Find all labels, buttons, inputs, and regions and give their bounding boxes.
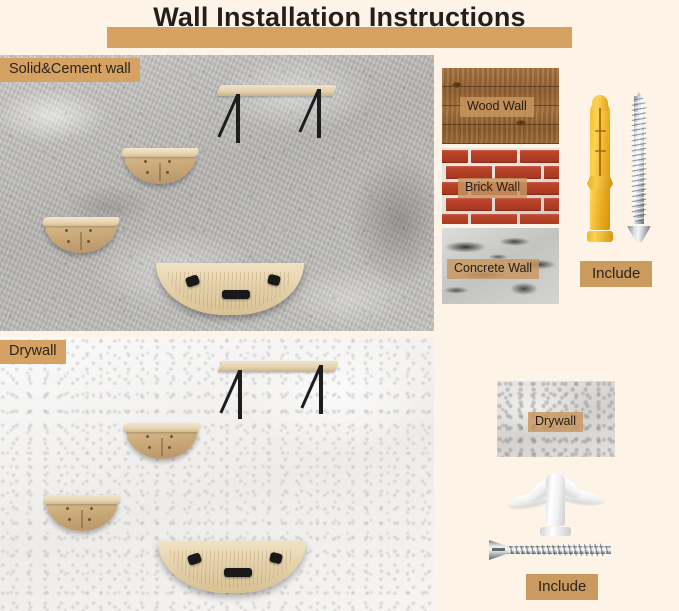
step-screw-hole [146,171,149,174]
brick-unit [544,198,559,211]
swatch-label-wood: Wood Wall [460,97,534,117]
screw-head-slot [492,548,505,551]
white-toggle-anchor-icon [508,466,604,538]
step-screw-hole [166,171,169,174]
toggle-body [546,474,565,526]
wall-shelf-large [220,361,337,419]
swatch-concrete-wall: Concrete Wall [442,228,559,304]
shelf-bracket-right-vertical [319,365,323,414]
toggle-base-flange [540,527,571,536]
instruction-poster: Wall Installation Instructions [0,0,679,611]
screw-thread [629,98,649,222]
half-round-step-upper [126,423,198,453]
swatch-label-drywall: Drywall [528,412,583,432]
step-screw-hole [65,229,68,232]
swatch-brick-wall: Brick Wall [442,148,559,224]
silver-screw-horizontal-icon [489,539,620,561]
photo-drywall [0,337,434,611]
step-screw-hole [68,518,71,521]
step-seam [159,163,161,181]
brick-unit [471,150,517,163]
photo-solid-cement-wall [0,55,434,331]
step-screw-hole [168,160,171,163]
brick-unit [520,150,559,163]
wall-shelf-large [218,85,335,143]
curved-cat-bridge [156,263,304,315]
brick-unit [446,198,492,211]
swatch-label-brick: Brick Wall [458,178,527,198]
step-screw-hole [170,435,173,438]
shelf-bracket-left-vertical [236,94,240,143]
half-round-step-lower [46,495,118,525]
anchor-flange [587,231,613,242]
half-round-step-lower [45,217,117,247]
step-seam [81,510,83,528]
half-round-step-upper [124,148,196,178]
step-front-lip [42,217,121,226]
step-front-lip [123,423,202,432]
screw-thread [505,542,611,558]
anchor-rib [595,130,606,132]
title-section: Wall Installation Instructions [0,0,679,55]
step-screw-hole [146,435,149,438]
bridge-foot-center [222,290,250,299]
step-screw-hole [90,507,93,510]
brick-unit [471,214,517,224]
include-label-drywall: Include [526,574,598,600]
step-screw-hole [67,240,70,243]
step-screw-hole [168,446,171,449]
brick-unit [442,214,468,224]
step-seam [161,438,163,456]
wood-knot [516,120,526,126]
step-screw-hole [89,229,92,232]
yellow-expansion-anchor-icon [587,92,613,242]
anchor-collar [587,176,613,190]
page-title: Wall Installation Instructions [0,2,679,33]
curved-cat-bridge [158,541,306,593]
brick-unit [544,166,559,179]
swatch-wood-wall: Wood Wall [442,68,559,144]
screw-head [627,226,651,242]
shelf-bracket-left-vertical [238,370,242,419]
swatch-label-concrete: Concrete Wall [447,259,539,279]
badge-solid-cement-wall: Solid&Cement wall [0,58,140,82]
step-seam [80,232,82,250]
brick-unit [520,214,559,224]
bridge-foot-center [224,568,252,577]
step-screw-hole [88,518,91,521]
brick-unit [495,198,541,211]
badge-drywall: Drywall [0,340,66,364]
silver-screw-vertical-icon [627,92,651,242]
brick-unit [442,150,468,163]
step-screw-hole [87,240,90,243]
wood-knot [452,82,462,88]
step-screw-hole [148,446,151,449]
step-screw-hole [144,160,147,163]
step-front-lip [121,148,200,157]
step-screw-hole [66,507,69,510]
swatch-drywall: Drywall [497,381,615,457]
include-label-solid-cement: Include [580,261,652,287]
shelf-bracket-right-vertical [317,89,321,138]
step-front-lip [43,495,122,504]
anchor-rib [595,150,606,152]
